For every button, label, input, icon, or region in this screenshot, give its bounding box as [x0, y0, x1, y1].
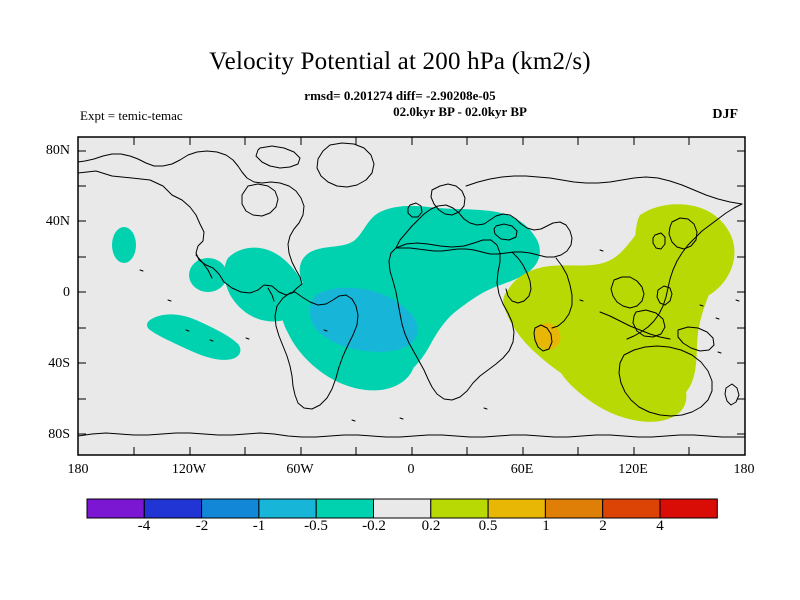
map-plot — [0, 0, 800, 600]
colorbar — [87, 499, 717, 518]
x-tick-label-0: 0 — [376, 462, 446, 478]
colorbar-segment — [431, 499, 488, 518]
region-central-pacific-patch-west — [112, 227, 136, 263]
x-tick-label-180e: 180 — [709, 462, 779, 478]
colorbar-tick-label: 1 — [516, 518, 576, 535]
colorbar-segment — [545, 499, 602, 518]
colorbar-segment — [660, 499, 717, 518]
colorbar-segment — [259, 499, 316, 518]
figure-canvas: Velocity Potential at 200 hPa (km2/s) rm… — [0, 0, 800, 600]
colorbar-tick-label: 2 — [573, 518, 633, 535]
y-tick-label-80n: 80N — [10, 143, 70, 159]
colorbar-tick-label: 0.2 — [401, 518, 461, 535]
colorbar-tick-label: -0.2 — [344, 518, 404, 535]
y-tick-label-40s: 40S — [10, 356, 70, 372]
y-tick-label-40n: 40N — [10, 214, 70, 230]
x-tick-label-120e: 120E — [598, 462, 668, 478]
y-tick-label-0: 0 — [10, 285, 70, 301]
colorbar-tick-label: -2 — [172, 518, 232, 535]
colorbar-segment — [316, 499, 373, 518]
x-tick-label-120w: 120W — [154, 462, 224, 478]
colorbar-segment — [202, 499, 259, 518]
x-tick-label-180w: 180 — [43, 462, 113, 478]
colorbar-segment — [374, 499, 431, 518]
colorbar-tick-label: 0.5 — [458, 518, 518, 535]
colorbar-segment — [87, 499, 144, 518]
colorbar-segment — [144, 499, 201, 518]
y-tick-label-80s: 80S — [10, 427, 70, 443]
x-tick-label-60w: 60W — [265, 462, 335, 478]
x-tick-label-60e: 60E — [487, 462, 557, 478]
colorbar-tick-label: -0.5 — [286, 518, 346, 535]
colorbar-segment — [603, 499, 660, 518]
colorbar-tick-label: -4 — [114, 518, 174, 535]
colorbar-tick-label: 4 — [630, 518, 690, 535]
region-east-pacific-patch-north — [189, 258, 227, 292]
colorbar-segment — [488, 499, 545, 518]
colorbar-tick-label: -1 — [229, 518, 289, 535]
